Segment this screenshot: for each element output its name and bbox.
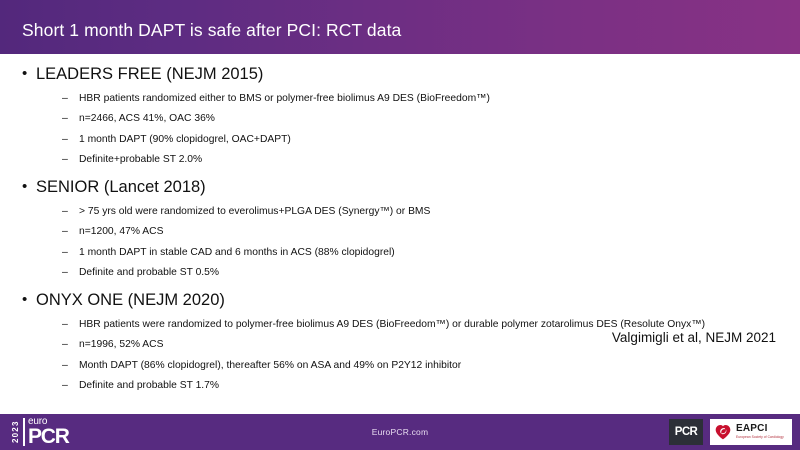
level2-bullet-icon: – <box>62 245 79 260</box>
list-item-text: Definite and probable ST 1.7% <box>79 378 219 393</box>
level2-bullet-icon: – <box>62 91 79 106</box>
level1-bullet-icon: • <box>18 289 36 311</box>
list-item-text: > 75 yrs old were randomized to everolim… <box>79 204 430 219</box>
list-item-text: 1 month DAPT (90% clopidogrel, OAC+DAPT) <box>79 132 291 147</box>
level2-bullet-icon: – <box>62 265 79 280</box>
list-item-text: Definite+probable ST 2.0% <box>79 152 202 167</box>
level2-bullet-icon: – <box>62 152 79 167</box>
section-heading-row: • SENIOR (Lancet 2018) <box>0 176 800 198</box>
level2-bullet-icon: – <box>62 358 79 373</box>
list-item-text: n=1200, 47% ACS <box>79 224 163 239</box>
heart-icon <box>714 423 732 441</box>
section-heading: SENIOR (Lancet 2018) <box>36 176 206 198</box>
list-item: – n=2466, ACS 41%, OAC 36% <box>0 111 800 126</box>
section-points: – HBR patients randomized either to BMS … <box>0 91 800 168</box>
slide: Short 1 month DAPT is safe after PCI: RC… <box>0 0 800 450</box>
level1-bullet-icon: • <box>18 63 36 85</box>
level2-bullet-icon: – <box>62 204 79 219</box>
list-item: – > 75 yrs old were randomized to everol… <box>0 204 800 219</box>
list-item-text: HBR patients randomized either to BMS or… <box>79 91 490 106</box>
slide-title-bar: Short 1 month DAPT is safe after PCI: RC… <box>0 0 800 54</box>
level2-bullet-icon: – <box>62 317 79 332</box>
list-item: – HBR patients randomized either to BMS … <box>0 91 800 106</box>
section-heading: LEADERS FREE (NEJM 2015) <box>36 63 263 85</box>
list-item: – Month DAPT (86% clopidogrel), thereaft… <box>0 358 800 373</box>
eapci-wordmark: EAPCI European Society of Cardiology <box>736 424 784 439</box>
level1-bullet-icon: • <box>18 176 36 198</box>
list-item: – Definite and probable ST 1.7% <box>0 378 800 393</box>
eapci-logo: EAPCI European Society of Cardiology <box>710 419 792 445</box>
level2-bullet-icon: – <box>62 337 79 352</box>
source-attribution: Valgimigli et al, NEJM 2021 <box>612 330 776 345</box>
slide-body: • LEADERS FREE (NEJM 2015) – HBR patient… <box>0 54 800 414</box>
section-heading: ONYX ONE (NEJM 2020) <box>36 289 225 311</box>
page-title: Short 1 month DAPT is safe after PCI: RC… <box>0 14 401 41</box>
list-item-text: Month DAPT (86% clopidogrel), thereafter… <box>79 358 461 373</box>
list-item: – n=1200, 47% ACS <box>0 224 800 239</box>
pcr-badge-text: PCR <box>675 426 697 438</box>
section-points: – > 75 yrs old were randomized to everol… <box>0 204 800 281</box>
list-item: – 1 month DAPT in stable CAD and 6 month… <box>0 245 800 260</box>
footer-logos: PCR EAPCI European Society of Cardiology <box>669 418 792 446</box>
level2-bullet-icon: – <box>62 224 79 239</box>
list-item-text: Definite and probable ST 0.5% <box>79 265 219 280</box>
level2-bullet-icon: – <box>62 132 79 147</box>
pcr-badge-logo: PCR <box>669 419 703 445</box>
footer-website-text: EuroPCR.com <box>372 427 429 437</box>
list-item-text: n=2466, ACS 41%, OAC 36% <box>79 111 215 126</box>
list-item: – Definite and probable ST 0.5% <box>0 265 800 280</box>
list-item: – Definite+probable ST 2.0% <box>0 152 800 167</box>
list-item: – 1 month DAPT (90% clopidogrel, OAC+DAP… <box>0 132 800 147</box>
section-heading-row: • LEADERS FREE (NEJM 2015) <box>0 63 800 85</box>
slide-footer: 2023 euro PCR EuroPCR.com PCR <box>0 414 800 450</box>
level2-bullet-icon: – <box>62 378 79 393</box>
section-points: – HBR patients were randomized to polyme… <box>0 317 800 394</box>
section-leaders-free: • LEADERS FREE (NEJM 2015) – HBR patient… <box>0 63 800 167</box>
eapci-name: EAPCI <box>736 424 784 434</box>
list-item-text: 1 month DAPT in stable CAD and 6 months … <box>79 245 395 260</box>
list-item-text: n=1996, 52% ACS <box>79 337 163 352</box>
level2-bullet-icon: – <box>62 111 79 126</box>
section-heading-row: • ONYX ONE (NEJM 2020) <box>0 289 800 311</box>
section-senior: • SENIOR (Lancet 2018) – > 75 yrs old we… <box>0 176 800 280</box>
eapci-subtitle: European Society of Cardiology <box>736 436 784 439</box>
